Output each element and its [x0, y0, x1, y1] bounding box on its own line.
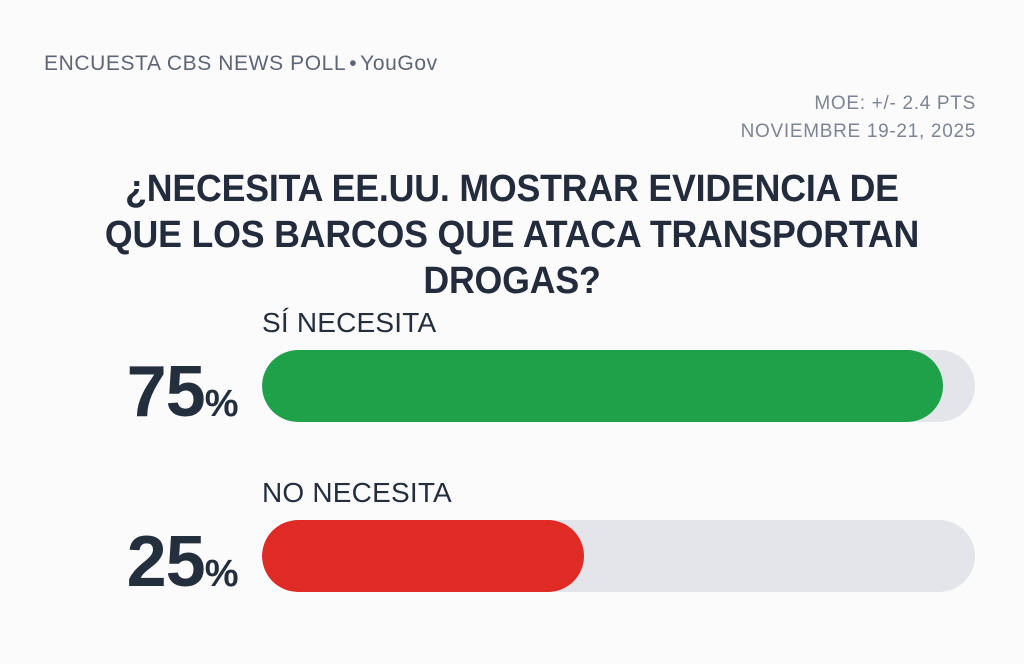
bar-label-no-necesita: NO NECESITA — [262, 478, 975, 520]
bar-value-no-necesita: 25% — [0, 526, 238, 598]
bar-label-si-necesita: SÍ NECESITA — [262, 308, 975, 350]
bar-row-si-necesita: 75% SÍ NECESITA — [0, 308, 1024, 478]
bar-body-no-necesita: NO NECESITA — [262, 478, 975, 592]
margin-of-error-text: MOE: +/- 2.4 PTS — [741, 90, 976, 118]
bar-row-no-necesita: 25% NO NECESITA — [0, 478, 1024, 648]
bar-value-unit: % — [205, 553, 238, 595]
poll-source-separator: • — [346, 52, 360, 75]
poll-source-prefix: ENCUESTA CBS NEWS POLL — [44, 52, 346, 75]
poll-source: ENCUESTA CBS NEWS POLL•YouGov — [44, 52, 438, 76]
bar-body-si-necesita: SÍ NECESITA — [262, 308, 975, 422]
bar-value-unit: % — [205, 383, 238, 425]
poll-graphic: ENCUESTA CBS NEWS POLL•YouGov MOE: +/- 2… — [0, 0, 1024, 664]
poll-source-partner: YouGov — [360, 52, 438, 75]
bar-chart: 75% SÍ NECESITA 25% NO NECESITA — [0, 308, 1024, 648]
bar-track-no-necesita — [262, 520, 975, 592]
bar-value-number: 75 — [127, 352, 205, 432]
field-dates-text: NOVIEMBRE 19-21, 2025 — [741, 118, 976, 146]
bar-value-si-necesita: 75% — [0, 356, 238, 428]
bar-track-si-necesita — [262, 350, 975, 422]
bar-fill-si-necesita — [262, 350, 943, 422]
page-title: ¿NECESITA EE.UU. MOSTRAR EVIDENCIA DE QU… — [87, 166, 937, 304]
bar-value-number: 25 — [127, 522, 205, 602]
poll-meta: MOE: +/- 2.4 PTS NOVIEMBRE 19-21, 2025 — [741, 90, 976, 146]
bar-fill-no-necesita — [262, 520, 584, 592]
